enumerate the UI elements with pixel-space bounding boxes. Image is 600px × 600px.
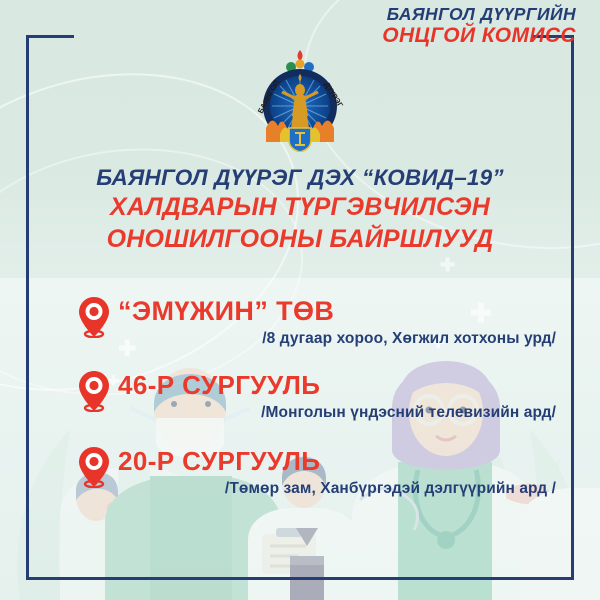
location-name: 20-Р СУРГУУЛЬ: [118, 446, 320, 477]
frame-left-border: [26, 35, 29, 580]
header-line-2: ОНЦГОЙ КОМИСС: [382, 25, 576, 46]
frame-right-border: [571, 35, 574, 580]
map-pin-icon: [78, 296, 110, 338]
frame-top-left-segment: [26, 35, 74, 38]
title-line-2: ХАЛДВАРЫН ТҮРГЭВЧИЛСЭН: [0, 193, 600, 222]
location-name: “ЭМҮЖИН” ТӨВ: [118, 296, 334, 327]
frame-bottom-border: [26, 577, 574, 580]
bayangol-district-emblem-icon: БАЯНГОЛ ДҮҮРЭГ: [252, 48, 348, 152]
location-address: /Төмөр зам, Ханбүргэдэй дэлгүүрийн ард /: [225, 480, 556, 498]
location-address: /Монголын үндэсний телевизийн ард/: [261, 404, 556, 422]
main-title-block: БАЯНГОЛ ДҮҮРЭГ ДЭХ “КОВИД–19” ХАЛДВАРЫН …: [0, 165, 600, 253]
header-block: БАЯНГОЛ ДҮҮРГИЙН ОНЦГОЙ КОМИСС: [382, 6, 576, 46]
title-line-1: БАЯНГОЛ ДҮҮРЭГ ДЭХ “КОВИД–19”: [0, 165, 600, 190]
location-name: 46-Р СУРГУУЛЬ: [118, 370, 320, 401]
poster-canvas: ✚ ✚ ✚ ✚ ✚: [0, 0, 600, 600]
map-pin-icon: [78, 370, 110, 412]
plus-decoration-icon: ✚: [440, 256, 455, 274]
header-line-1: БАЯНГОЛ ДҮҮРГИЙН: [382, 6, 576, 24]
map-pin-icon: [78, 446, 110, 488]
location-address: /8 дугаар хороо, Хөгжил хотхоны урд/: [262, 330, 556, 348]
title-line-3: ОНОШИЛГООНЫ БАЙРШЛУУД: [0, 225, 600, 254]
